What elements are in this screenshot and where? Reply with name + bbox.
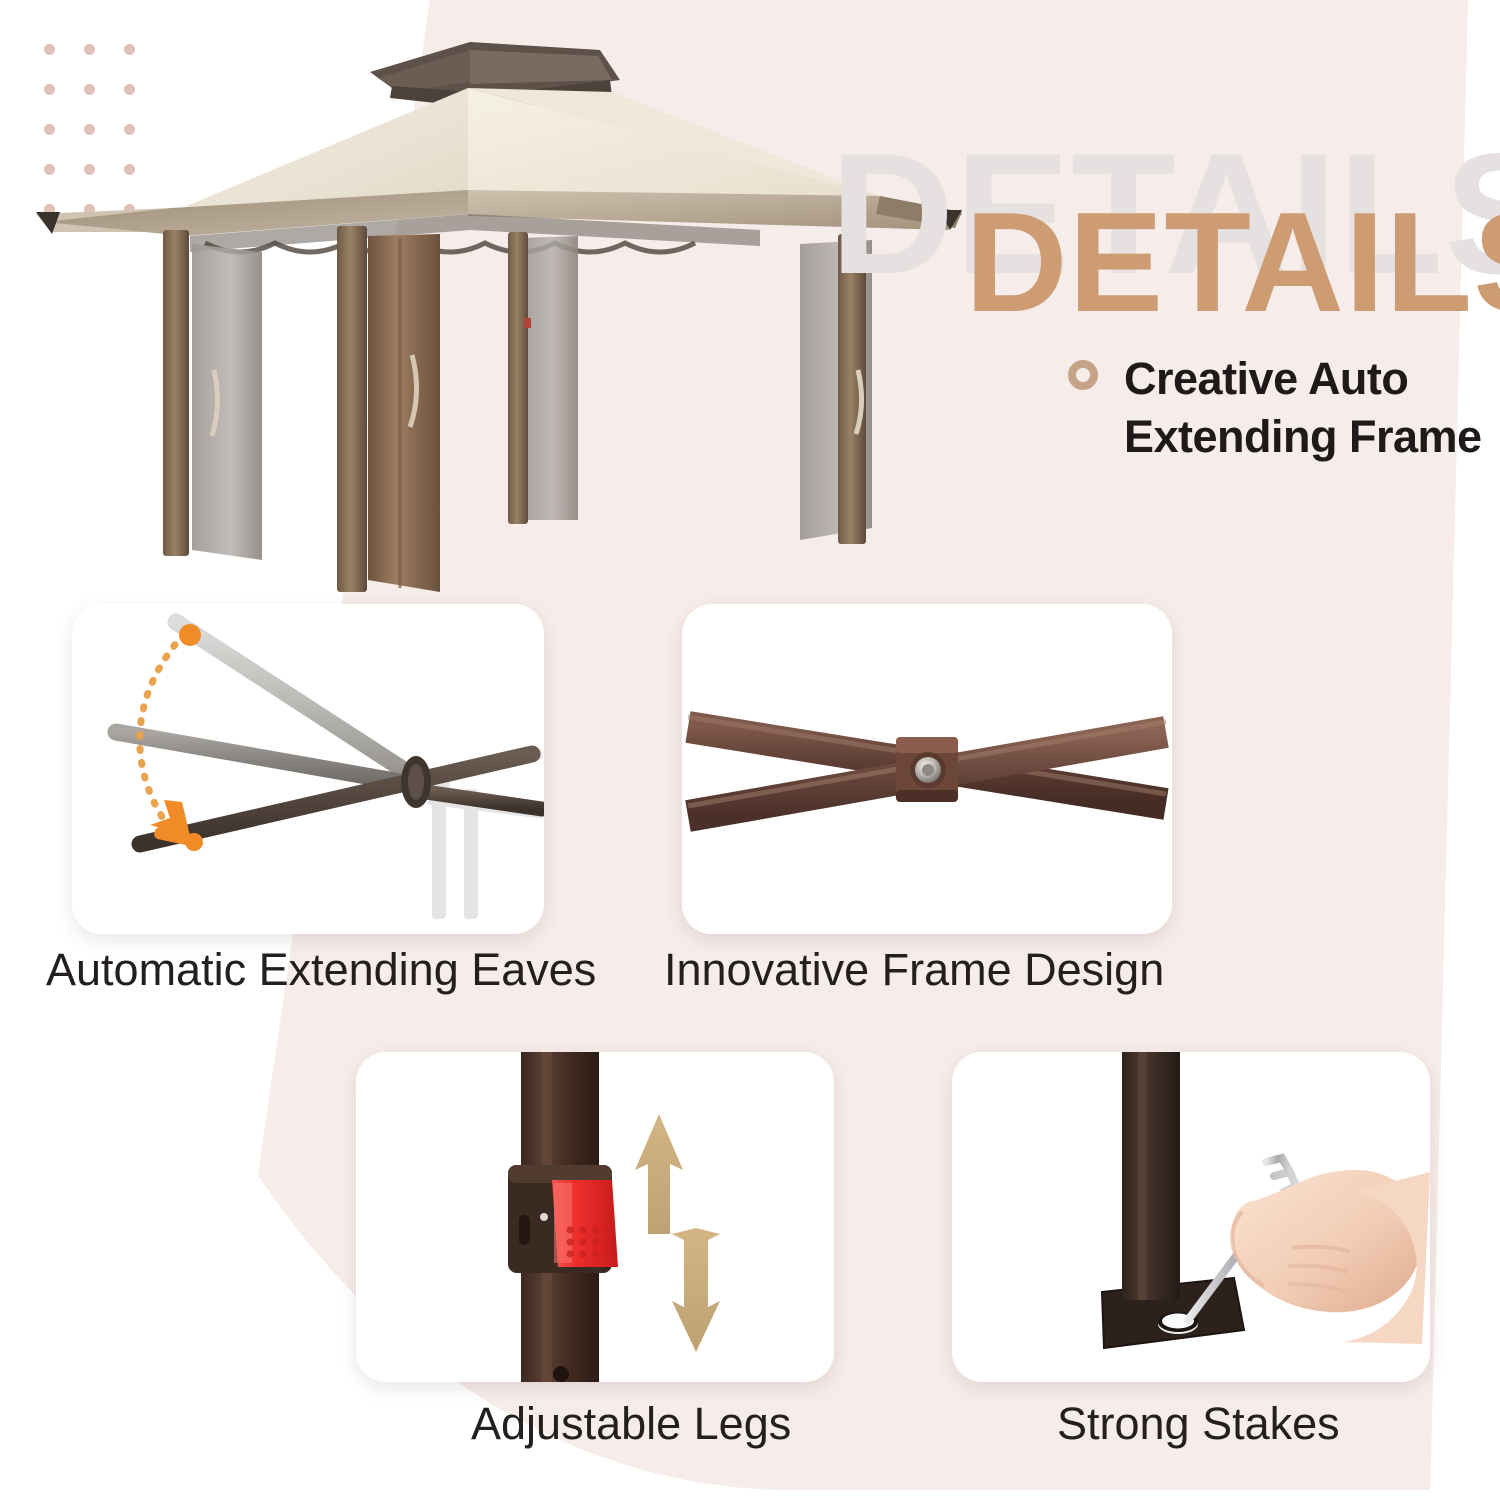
feature-card-label-adjustable-legs: Adjustable Legs — [471, 1398, 791, 1450]
ring-bullet-icon — [1068, 360, 1098, 390]
feature-card-strong-stakes — [952, 1052, 1430, 1382]
feature-card-label-strong-stakes: Strong Stakes — [1057, 1398, 1340, 1450]
feature-bullet-label: Creative Auto Extending Frame — [1124, 350, 1482, 465]
feature-bullet: Creative Auto Extending Frame — [1068, 350, 1488, 465]
page-title: DETAILS DETAILS — [835, 140, 1495, 340]
title-main-text: DETAILS — [965, 192, 1500, 334]
feature-card-adjustable-legs — [356, 1052, 834, 1382]
feature-card-label-automatic-extending-eaves: Automatic Extending Eaves — [46, 944, 596, 996]
feature-card-automatic-extending-eaves — [72, 604, 544, 934]
feature-card-label-innovative-frame-design: Innovative Frame Design — [664, 944, 1164, 996]
infographic-canvas: DETAILS DETAILS Creative Auto Extending … — [0, 0, 1500, 1500]
feature-card-innovative-frame-design — [682, 604, 1172, 934]
